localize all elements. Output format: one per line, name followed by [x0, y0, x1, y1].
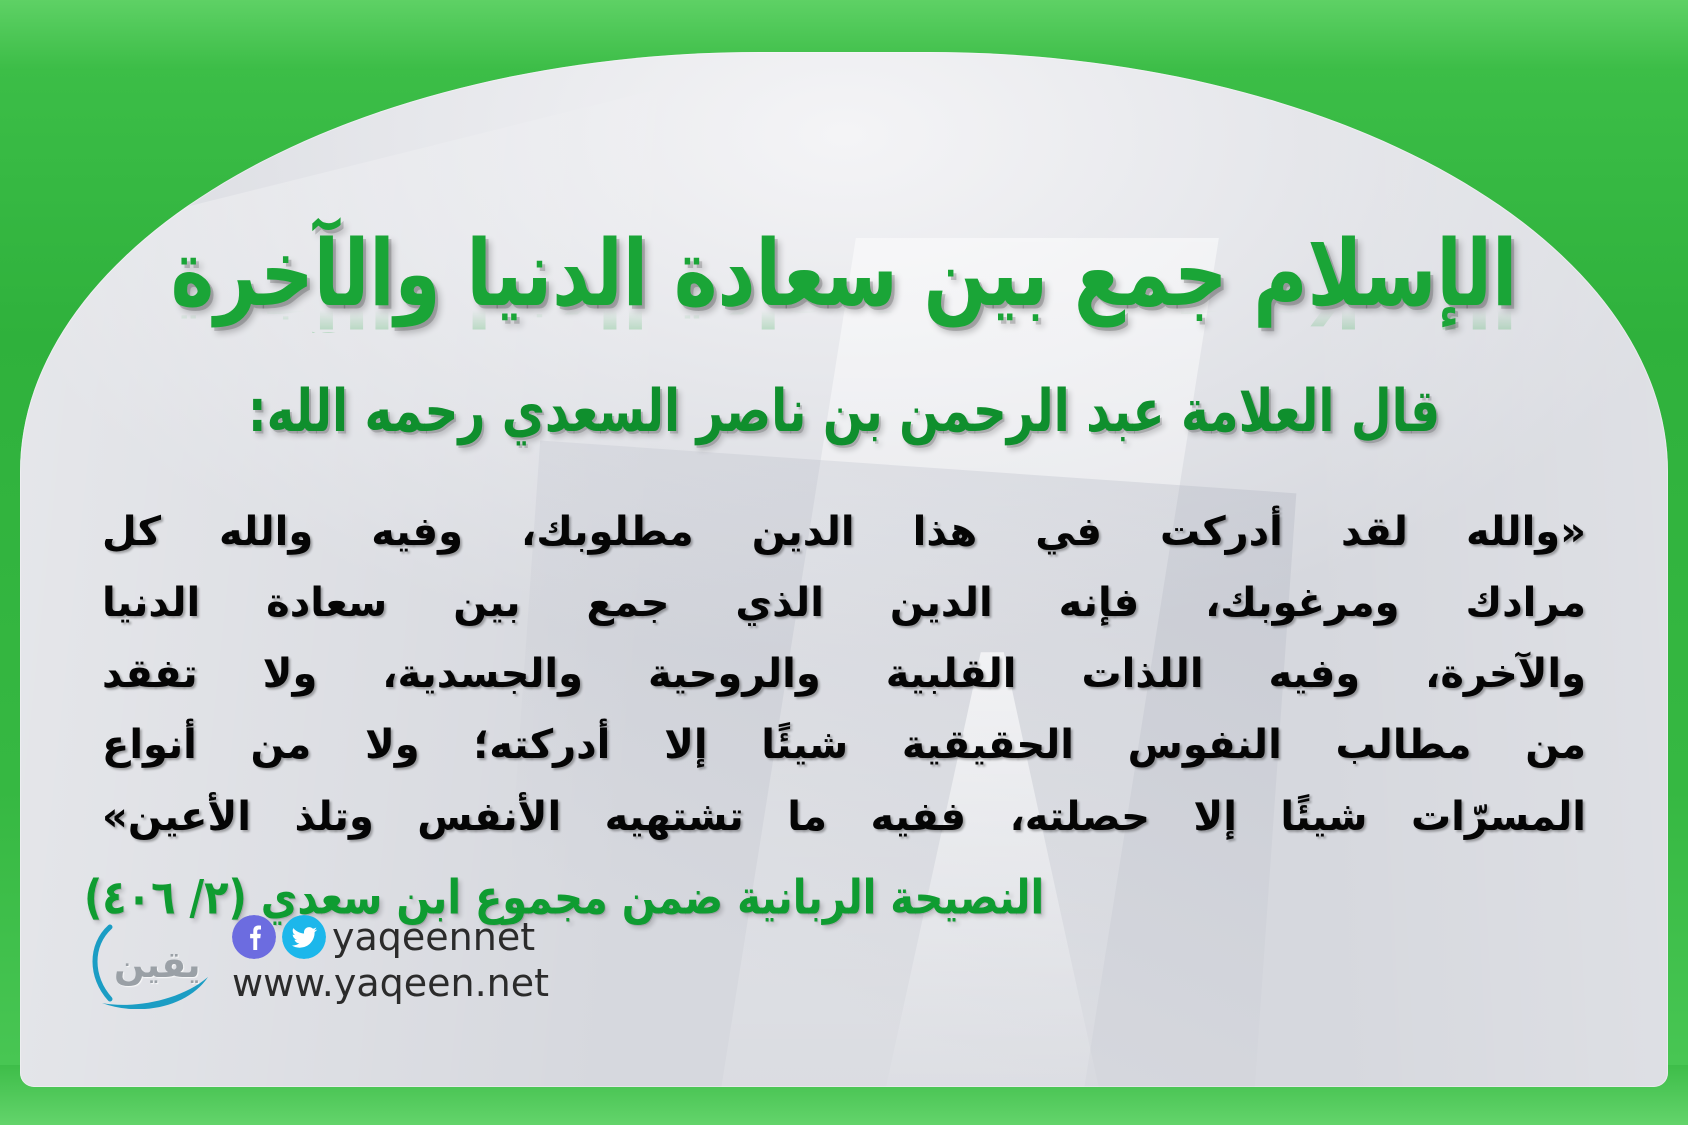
page-title: الإسلام جمع بين سعادة الدنيا والآخرة — [50, 228, 1638, 322]
social-handle-text: yaqeennet — [332, 915, 535, 959]
handle-row-website: www.yaqeen.net — [232, 961, 549, 1005]
quote-body: «والله لقد أدركت في هذا الدين مطلوبك، وف… — [102, 497, 1586, 853]
logo-wordmark: يقين — [114, 945, 201, 986]
poster-canvas: الإسلام جمع بين سعادة الدنيا والآخرة الإ… — [0, 0, 1688, 1125]
branding-block: يقين yaqeennet www.yaqeen.net — [84, 915, 549, 1009]
social-handles: yaqeennet www.yaqeen.net — [232, 915, 549, 1009]
website-url[interactable]: www.yaqeen.net — [232, 961, 549, 1005]
poster-card: الإسلام جمع بين سعادة الدنيا والآخرة الإ… — [20, 52, 1668, 1087]
quote-line: والآخرة، وفيه اللذات القلبية والروحية وا… — [102, 639, 1586, 710]
quote-line: «والله لقد أدركت في هذا الدين مطلوبك، وف… — [102, 497, 1586, 568]
quote-line: المسرّات شيئًا إلا حصلته، ففيه ما تشتهيه… — [102, 782, 1586, 853]
facebook-icon[interactable] — [232, 915, 276, 959]
handle-row-social: yaqeennet — [232, 915, 549, 959]
yaqeen-logo: يقين — [84, 919, 222, 1009]
quote-line: مرادك ومرغوبك، فإنه الدين الذي جمع بين س… — [102, 568, 1586, 639]
twitter-icon[interactable] — [282, 915, 326, 959]
attribution-line: قال العلامة عبد الرحمن بن ناصر السعدي رح… — [50, 381, 1638, 443]
quote-line: من مطالب النفوس الحقيقية شيئًا إلا أدركت… — [102, 710, 1586, 781]
